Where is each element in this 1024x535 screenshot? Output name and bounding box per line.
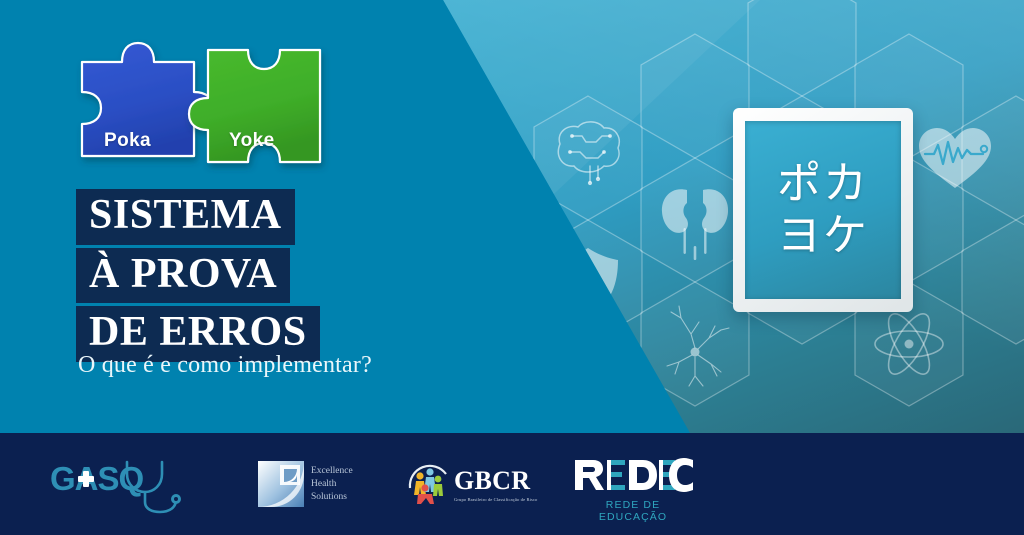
redec-wordmark — [573, 458, 693, 492]
redec-tagline: REDE DE EDUCAÇÃO — [573, 499, 693, 523]
page-title: SISTEMA À PROVA DE ERROS — [76, 189, 320, 365]
gbcr-tagline: Grupo Brasileiro de Classificação de Ris… — [454, 497, 537, 502]
ehs-line-2: Health — [311, 478, 353, 491]
tablet-device: ポカ ヨケ — [733, 108, 913, 312]
people-group-icon — [406, 462, 450, 506]
tablet-screen: ポカ ヨケ — [745, 121, 901, 299]
puzzle-left-label: Poka — [104, 130, 151, 152]
title-line-1: SISTEMA — [76, 189, 295, 245]
square-spiral-logo-icon — [258, 461, 304, 507]
subtitle-text: O que é e como implementar? — [78, 352, 372, 379]
title-line-2: À PROVA — [76, 248, 290, 304]
ehs-line-3: Solutions — [311, 491, 353, 504]
poster-canvas: Poka Yoke SISTEMA À PROVA DE ERROS O que… — [0, 0, 1024, 535]
puzzle-right-label: Yoke — [229, 130, 275, 152]
logo-excellence-health-solutions[interactable]: Excellence Health Solutions — [258, 458, 376, 510]
footer-bar: GASQ — [0, 433, 1024, 535]
japanese-text-line-1: ポカ — [777, 161, 869, 207]
gbcr-wordmark: GBCR — [454, 466, 537, 496]
footer-logo-row: GASQ — [0, 433, 1024, 535]
ehs-text-block: Excellence Health Solutions — [311, 465, 353, 504]
puzzle-graphic: Poka Yoke — [70, 30, 340, 175]
gasq-wordmark: GASQ — [50, 460, 144, 497]
logo-redec[interactable]: REDE DE EDUCAÇÃO — [573, 458, 693, 510]
ehs-line-1: Excellence — [311, 465, 353, 478]
japanese-text-line-2: ヨケ — [777, 213, 869, 259]
logo-gasq[interactable]: GASQ — [48, 454, 196, 514]
logo-gbcr[interactable]: GBCR Grupo Brasileiro de Classificação d… — [406, 458, 541, 510]
